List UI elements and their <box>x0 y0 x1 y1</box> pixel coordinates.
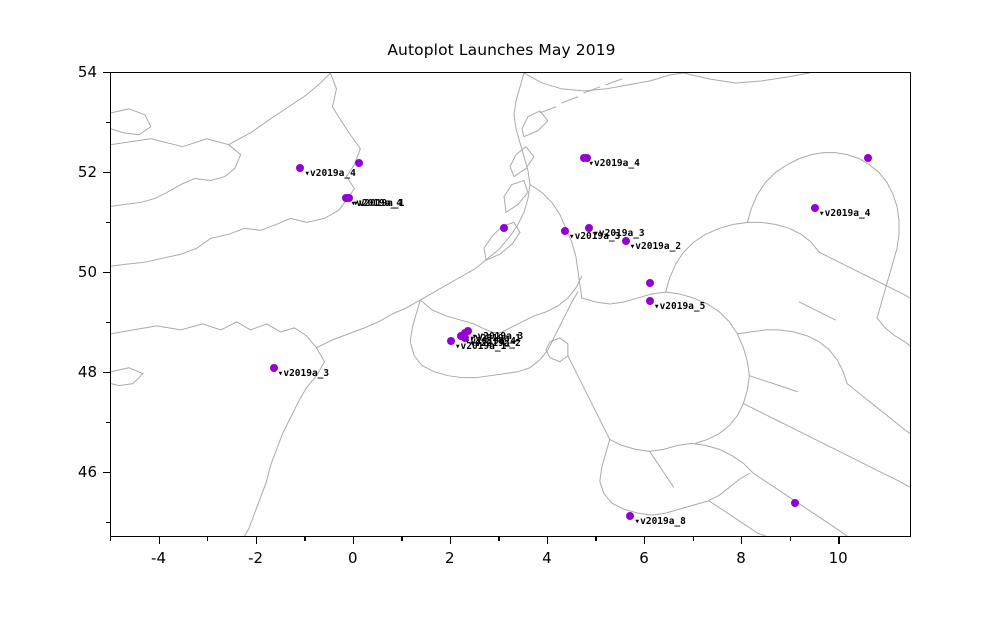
scatter-point-label: ▾v2019a_5 <box>654 302 705 312</box>
y-tick <box>103 172 110 173</box>
y-minor-tick <box>106 122 110 123</box>
scatter-point-label: ▾v2019a_8 <box>634 517 685 527</box>
y-minor-tick <box>106 222 110 223</box>
x-tick-label: 6 <box>639 549 649 567</box>
scatter-point-label: ▾v2019a_2 <box>469 339 520 349</box>
plot-area: ▾v2019a_4▾v2019a_4▾v2019a_1▾v2019a_4▾v20… <box>110 72 911 537</box>
y-minor-tick <box>106 522 110 523</box>
scatter-point <box>626 512 634 520</box>
x-tick-label: 4 <box>542 549 552 567</box>
x-minor-tick <box>595 537 596 541</box>
x-tick <box>450 537 451 544</box>
x-tick <box>838 537 839 544</box>
x-tick <box>644 537 645 544</box>
y-tick <box>103 372 110 373</box>
x-tick-label: 0 <box>348 549 358 567</box>
x-minor-tick <box>110 537 111 541</box>
y-tick <box>103 472 110 473</box>
scatter-point <box>500 224 508 232</box>
x-tick <box>256 537 257 544</box>
scatter-point <box>622 237 630 245</box>
y-minor-tick <box>106 322 110 323</box>
scatter-point <box>811 204 819 212</box>
scatter-point <box>583 154 591 162</box>
x-minor-tick <box>207 537 208 541</box>
scatter-points: ▾v2019a_4▾v2019a_4▾v2019a_1▾v2019a_4▾v20… <box>111 73 910 536</box>
x-tick-label: 10 <box>829 549 848 567</box>
scatter-point <box>561 227 569 235</box>
x-minor-tick <box>693 537 694 541</box>
x-tick <box>741 537 742 544</box>
scatter-point-label: ▾v2019a_4 <box>819 209 870 219</box>
y-tick-label: 46 <box>55 463 97 481</box>
x-tick <box>547 537 548 544</box>
scatter-point <box>345 194 353 202</box>
scatter-point <box>270 364 278 372</box>
scatter-point <box>296 164 304 172</box>
scatter-point <box>791 499 799 507</box>
scatter-point-label: ▾v2019a_4 <box>588 159 639 169</box>
y-tick <box>103 272 110 273</box>
y-tick-label: 50 <box>55 263 97 281</box>
scatter-point <box>447 337 455 345</box>
scatter-point <box>864 154 872 162</box>
x-minor-tick <box>790 537 791 541</box>
x-minor-tick <box>304 537 305 541</box>
scatter-point-label: ▾v2019a_3 <box>593 229 644 239</box>
x-tick-label: 2 <box>445 549 455 567</box>
y-minor-tick <box>106 422 110 423</box>
x-minor-tick <box>401 537 402 541</box>
scatter-point-label: ▾v2019a_2 <box>630 242 681 252</box>
y-tick-label: 52 <box>55 163 97 181</box>
figure-canvas: Autoplot Launches May 2019 <box>0 0 1003 633</box>
y-tick <box>103 72 110 73</box>
y-tick-label: 54 <box>55 63 97 81</box>
x-tick-label: -4 <box>151 549 166 567</box>
scatter-point <box>646 279 654 287</box>
x-tick <box>159 537 160 544</box>
x-tick-label: -2 <box>248 549 263 567</box>
x-tick <box>353 537 354 544</box>
scatter-point-label: ▾v2019a_3 <box>278 369 329 379</box>
scatter-point-label: ▾v2019a_1 <box>353 199 404 209</box>
scatter-point <box>355 159 363 167</box>
x-minor-tick <box>498 537 499 541</box>
x-tick-label: 8 <box>736 549 746 567</box>
page-title: Autoplot Launches May 2019 <box>0 41 1003 59</box>
scatter-point-label: ▾v2019a_4 <box>304 169 355 179</box>
scatter-point <box>646 297 654 305</box>
y-tick-label: 48 <box>55 363 97 381</box>
